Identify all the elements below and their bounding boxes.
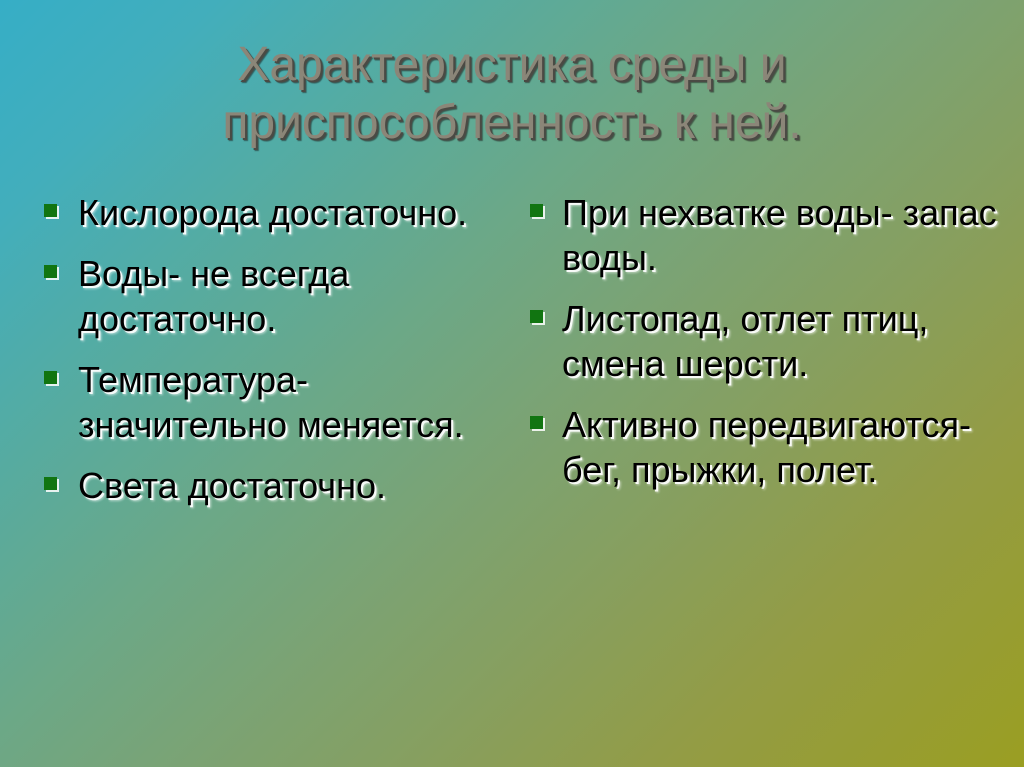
bullet-text: Кислорода достаточно.	[78, 190, 506, 235]
square-bullet-icon	[44, 371, 57, 384]
slide-title-line-1: Характеристика среды и	[62, 36, 962, 94]
bullet-list-left: Кислорода достаточно. Воды- не всегда до…	[36, 190, 506, 508]
list-item: Воды- не всегда достаточно.	[36, 251, 506, 341]
square-bullet-icon	[44, 204, 57, 217]
presentation-slide: Характеристика среды и приспособленность…	[0, 0, 1024, 767]
bullet-text: При нехватке воды- запас воды.	[562, 190, 1000, 280]
slide-title-line-2: приспособленность к ней.	[62, 94, 962, 152]
list-item: Листопад, отлет птиц, смена шерсти.	[520, 296, 1000, 386]
list-item: Температура- значительно меняется.	[36, 357, 506, 447]
square-bullet-icon	[530, 204, 543, 217]
square-bullet-icon	[530, 416, 543, 429]
content-column-left: Кислорода достаточно. Воды- не всегда до…	[36, 190, 506, 524]
square-bullet-icon	[44, 477, 57, 490]
bullet-text: Воды- не всегда достаточно.	[78, 251, 506, 341]
slide-title: Характеристика среды и приспособленность…	[62, 36, 962, 152]
square-bullet-icon	[530, 310, 543, 323]
list-item: Кислорода достаточно.	[36, 190, 506, 235]
list-item: Света достаточно.	[36, 463, 506, 508]
bullet-text: Света достаточно.	[78, 463, 506, 508]
bullet-list-right: При нехватке воды- запас воды. Листопад,…	[520, 190, 1000, 492]
list-item: Активно передвигаются- бег, прыжки, поле…	[520, 402, 1000, 492]
list-item: При нехватке воды- запас воды.	[520, 190, 1000, 280]
bullet-text: Листопад, отлет птиц, смена шерсти.	[562, 296, 1000, 386]
content-column-right: При нехватке воды- запас воды. Листопад,…	[520, 190, 1000, 508]
bullet-text: Активно передвигаются- бег, прыжки, поле…	[562, 402, 1000, 492]
square-bullet-icon	[44, 265, 57, 278]
bullet-text: Температура- значительно меняется.	[78, 357, 506, 447]
